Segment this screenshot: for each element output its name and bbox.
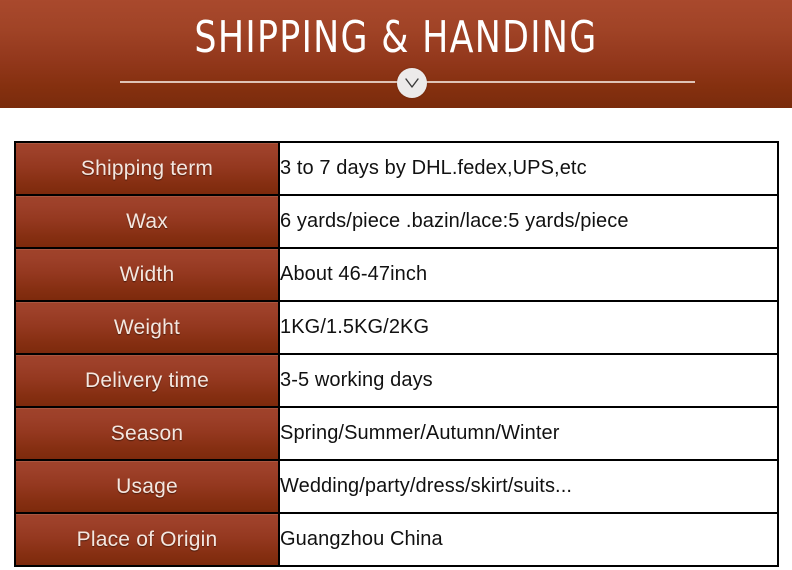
table-row: WidthAbout 46-47inch (15, 248, 778, 301)
spec-value-cell: 1KG/1.5KG/2KG (279, 301, 778, 354)
spec-label-cell: Wax (15, 195, 279, 248)
table-row: Weight1KG/1.5KG/2KG (15, 301, 778, 354)
spec-value-cell: 3-5 working days (279, 354, 778, 407)
spec-value-cell: 6 yards/piece .bazin/lace:5 yards/piece (279, 195, 778, 248)
spec-value-cell: 3 to 7 days by DHL.fedex,UPS,etc (279, 142, 778, 195)
spec-value-cell: Spring/Summer/Autumn/Winter (279, 407, 778, 460)
table-row: Place of OriginGuangzhou China (15, 513, 778, 566)
spec-table-body: Shipping term3 to 7 days by DHL.fedex,UP… (15, 142, 778, 566)
table-row: UsageWedding/party/dress/skirt/suits... (15, 460, 778, 513)
table-row: Delivery time3-5 working days (15, 354, 778, 407)
spec-label-cell: Width (15, 248, 279, 301)
spec-value-cell: About 46-47inch (279, 248, 778, 301)
spec-label-cell: Usage (15, 460, 279, 513)
spec-label-cell: Shipping term (15, 142, 279, 195)
table-row: Wax6 yards/piece .bazin/lace:5 yards/pie… (15, 195, 778, 248)
spec-label-cell: Place of Origin (15, 513, 279, 566)
banner-header: SHIPPING & HANDING (0, 0, 792, 108)
specification-table: Shipping term3 to 7 days by DHL.fedex,UP… (14, 141, 779, 567)
chevron-down-icon (397, 68, 427, 98)
spec-label-cell: Season (15, 407, 279, 460)
spec-value-cell: Wedding/party/dress/skirt/suits... (279, 460, 778, 513)
table-row: SeasonSpring/Summer/Autumn/Winter (15, 407, 778, 460)
spec-label-cell: Delivery time (15, 354, 279, 407)
spec-value-cell: Guangzhou China (279, 513, 778, 566)
shipping-handling-infographic: SHIPPING & HANDING Shipping term3 to 7 d… (0, 0, 792, 570)
table-row: Shipping term3 to 7 days by DHL.fedex,UP… (15, 142, 778, 195)
page-title: SHIPPING & HANDING (48, 13, 745, 63)
spec-label-cell: Weight (15, 301, 279, 354)
